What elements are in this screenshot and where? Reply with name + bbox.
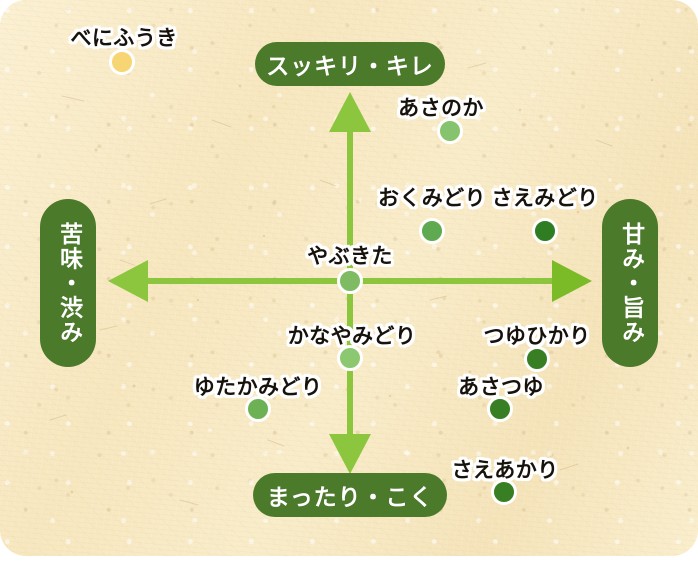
axis-label-top: スッキリ・キレ: [255, 42, 445, 86]
variety-label: さえあかり: [451, 454, 558, 484]
arrow-left-icon: [108, 260, 148, 302]
axis-label-left: 苦味・渋み: [40, 199, 96, 367]
variety-dot[interactable]: [532, 218, 558, 244]
variety-label: やぶきた: [307, 240, 393, 270]
variety-label: さえみどり: [491, 182, 598, 212]
arrow-up-icon: [329, 92, 371, 132]
variety-label: あさつゆ: [458, 371, 544, 401]
variety-label: あさのか: [398, 92, 484, 122]
variety-label: おくみどり: [378, 182, 486, 212]
variety-dot[interactable]: [109, 49, 135, 75]
variety-label: べにふうき: [70, 22, 177, 52]
tea-variety-map: スッキリ・キレ まったり・こく 苦味・渋み 甘み・旨み べにふうきあさのかやぶき…: [0, 0, 698, 564]
variety-dot[interactable]: [419, 218, 445, 244]
variety-label: かなやみどり: [288, 320, 417, 350]
arrow-right-icon: [552, 260, 592, 302]
arrow-down-icon: [329, 434, 371, 474]
variety-dot[interactable]: [337, 268, 363, 294]
variety-label: つゆひかり: [483, 320, 590, 350]
variety-label: ゆたかみどり: [194, 371, 323, 401]
axis-label-bottom: まったり・こく: [253, 473, 447, 517]
axis-label-right: 甘み・旨み: [602, 199, 658, 367]
